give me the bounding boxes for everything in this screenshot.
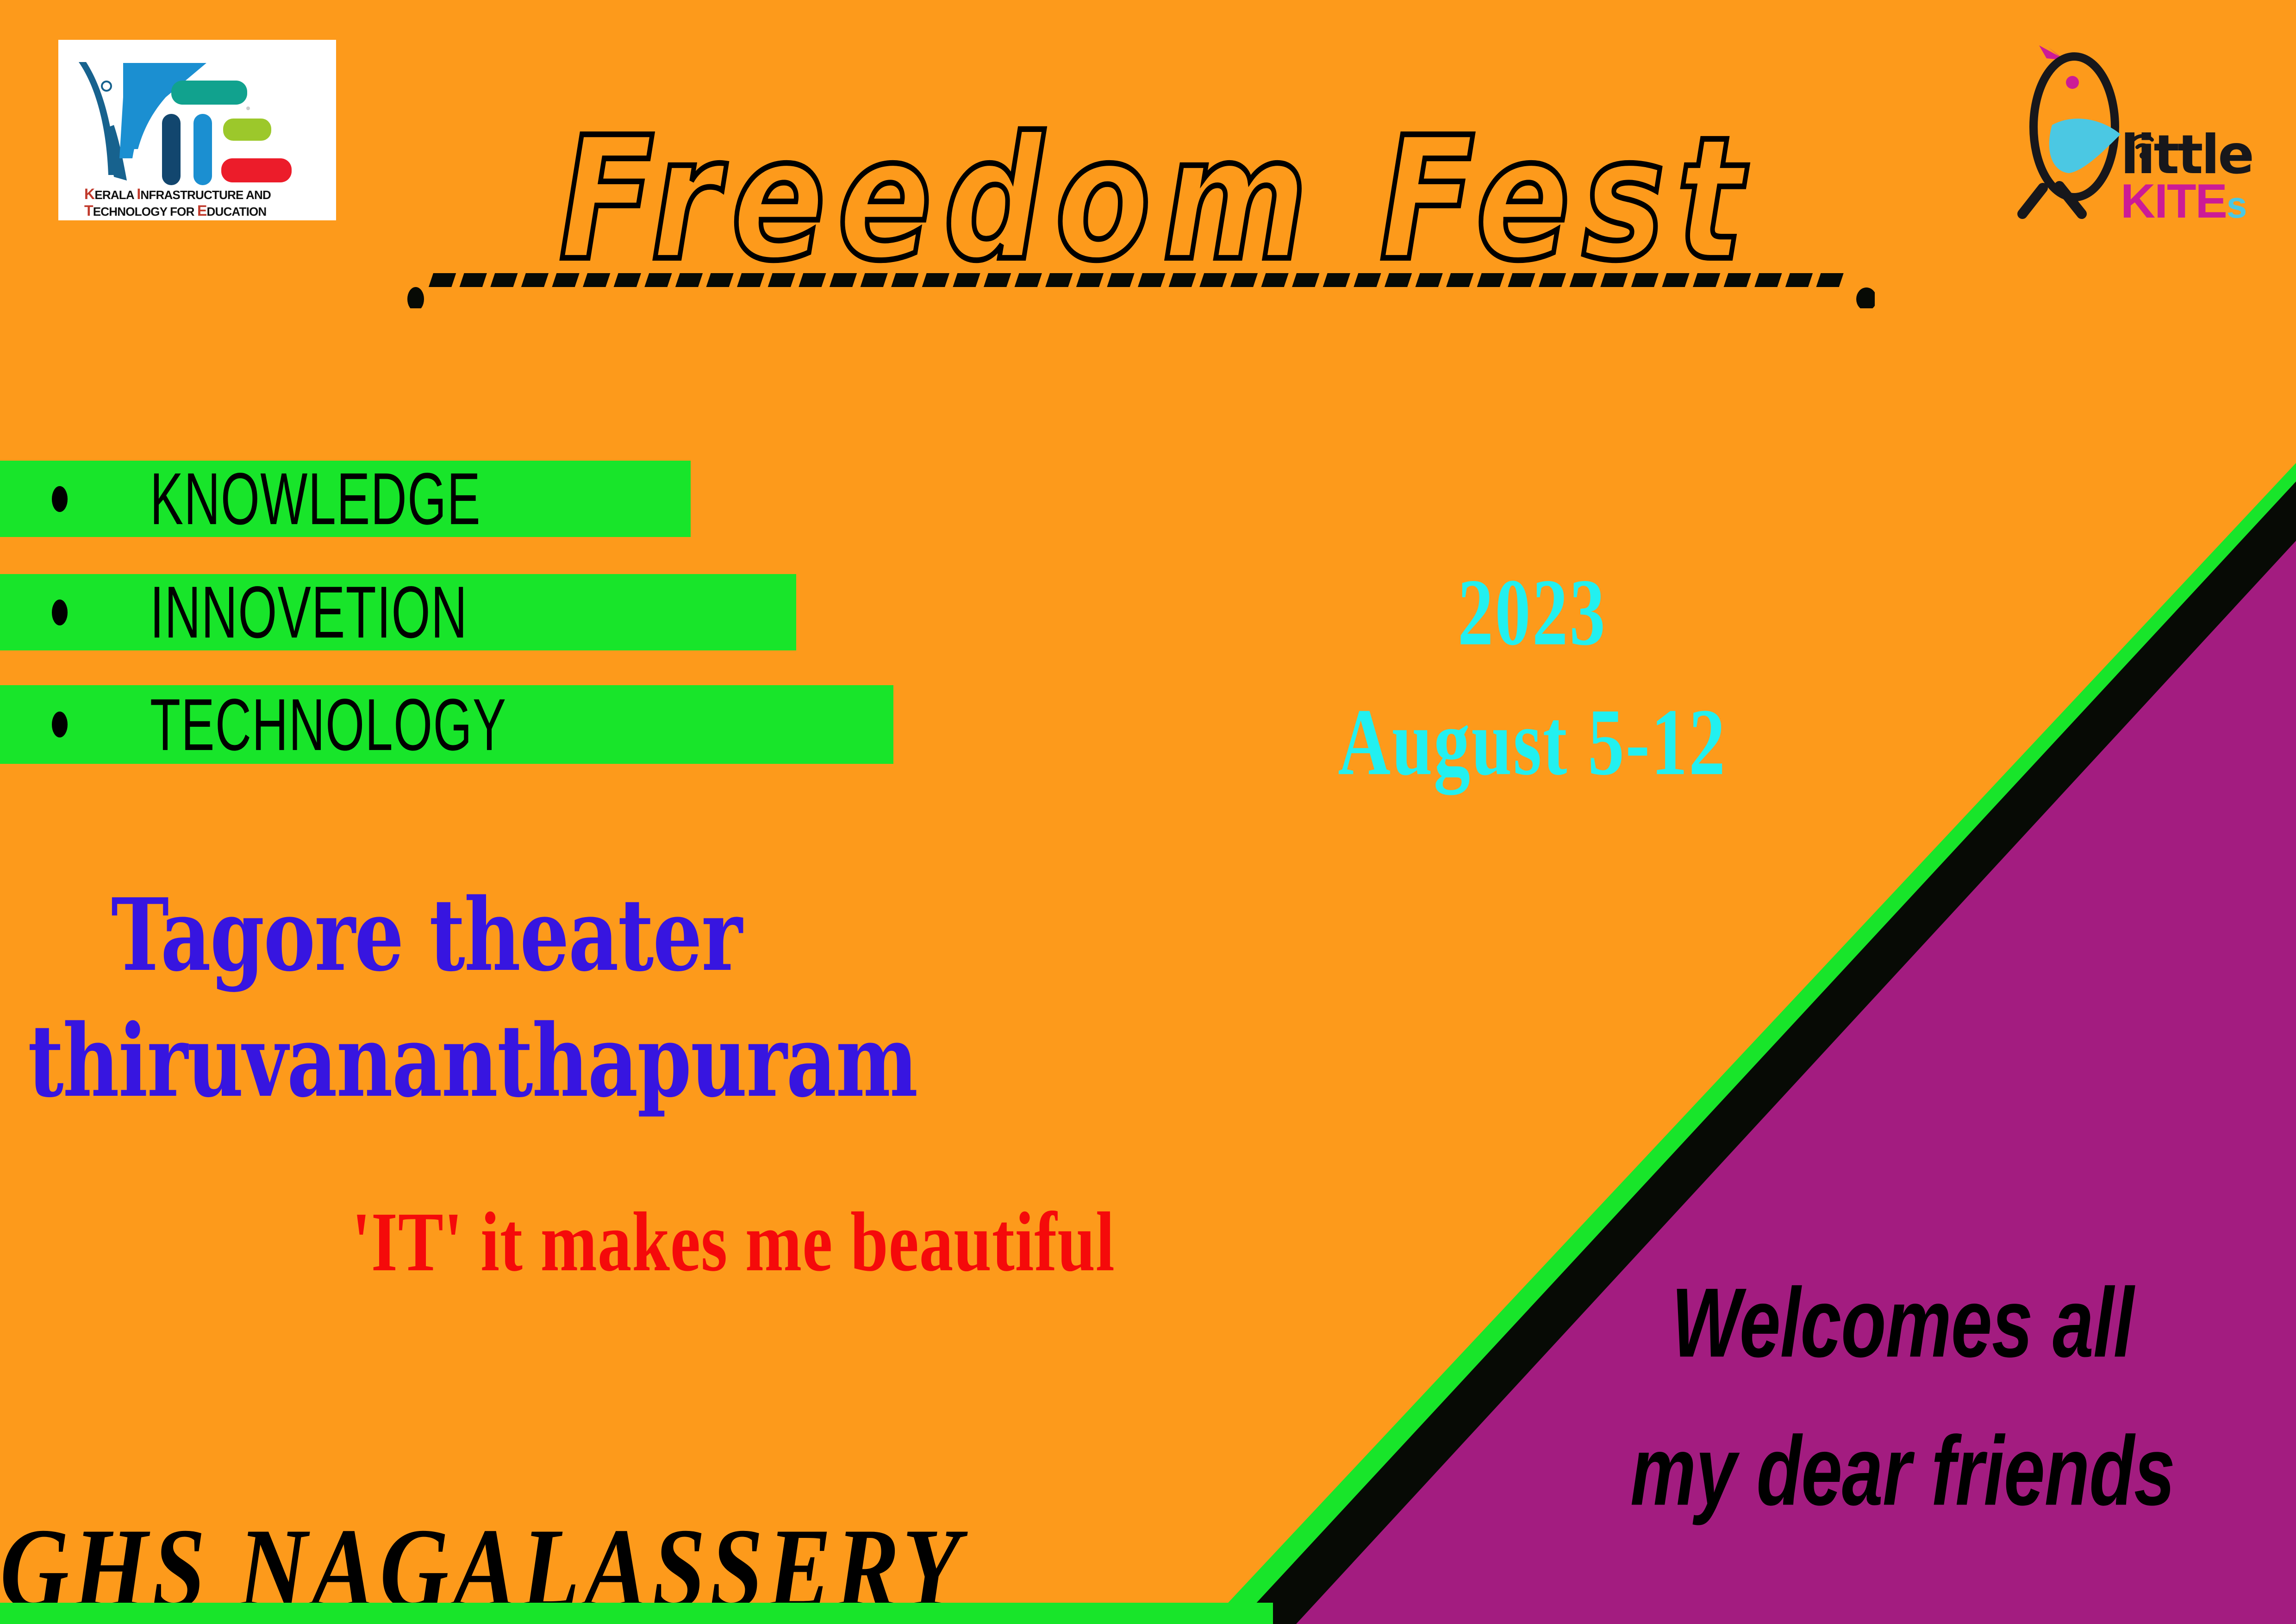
little-kites-logo: little KITEs [2011,32,2271,227]
divider-dash [644,273,672,287]
divider-dash [830,273,857,287]
divider-dash [1754,273,1782,287]
divider-dash [1415,273,1442,287]
divider-right-dot [1856,287,1875,308]
divider-dash [1045,273,1073,287]
divider-dash [984,273,1011,287]
divider-dash [1508,273,1535,287]
divider-dash [1292,273,1319,287]
divider-dash [429,273,456,287]
divider-dash [861,273,888,287]
divider-dash [521,273,549,287]
poster-canvas: KERALA INFRASTRUCTURE AND TECHNOLOGY FOR… [0,0,2296,1624]
venue-block: Tagore theater thiruvananthapuram [28,870,1231,1097]
divider-dash [768,273,795,287]
welcome-line-2: my dear friends [1588,1417,2218,1525]
welcome-line-1: Welcomes all [1588,1268,2218,1377]
divider-dash [675,273,703,287]
divider-dash [953,273,980,287]
divider-dash [1631,273,1659,287]
tagline: 'IT' it makes me beautiful [352,1197,1115,1288]
divider-dash [1600,273,1628,287]
divider-dash [1354,273,1381,287]
divider-dash [1261,273,1288,287]
divider-dash [1570,273,1597,287]
divider-left-dot [407,287,424,308]
divider-dash [1230,273,1258,287]
divider-dash [1693,273,1720,287]
divider-dash [1724,273,1751,287]
venue-line-1: Tagore theater [111,870,1231,999]
divider-dash [552,273,579,287]
divider-dash [1199,273,1227,287]
svg-text:KERALA INFRASTRUCTURE AND: KERALA INFRASTRUCTURE AND [84,186,271,202]
divider-dash [1076,273,1104,287]
page-title: Freedom Fest [417,106,1898,293]
theme-bar-technology: TECHNOLOGY [0,685,893,764]
divider-dash [706,273,733,287]
dashed-divider [407,271,1875,308]
bullet-dot [52,600,68,625]
divider-dash [1015,273,1042,287]
divider-dash [1816,273,1843,287]
divider-dash [737,273,764,287]
theme-label: TECHNOLOGY [150,682,507,767]
divider-dash [1477,273,1504,287]
divider-dash [583,273,610,287]
divider-dash [1446,273,1473,287]
divider-dash [1169,273,1196,287]
svg-text:TECHNOLOGY FOR EDUCATION: TECHNOLOGY FOR EDUCATION [84,202,266,219]
theme-label: INNOVETION [150,570,468,655]
theme-label: KNOWLEDGE [150,456,481,541]
divider-dash [1107,273,1134,287]
divider-dash [490,273,518,287]
divider-dash [1662,273,1689,287]
divider-dash [1323,273,1350,287]
bullet-dot [52,712,68,737]
welcome-block: Welcomes all my dear friends [1528,1268,2277,1514]
divider-dashes [429,273,1844,287]
divider-dash [922,273,949,287]
event-dates: August 5-12 [1220,689,1845,795]
divider-dash [1785,273,1813,287]
bullet-dot [52,486,68,512]
divider-dash [891,273,918,287]
event-date-block: 2023 August 5-12 [1185,560,1879,779]
divider-dash [1385,273,1412,287]
bottom-accent-strip [0,1603,1273,1624]
venue-line-2: thiruvananthapuram [28,996,1231,1125]
divider-dash [1138,273,1165,287]
theme-bar-innovetion: INNOVETION [0,574,796,650]
divider-dash [799,273,826,287]
kite-logo: KERALA INFRASTRUCTURE AND TECHNOLOGY FOR… [58,40,336,220]
divider-dash [614,273,641,287]
divider-dash [1539,273,1566,287]
divider-dash [460,273,487,287]
event-year: 2023 [1227,560,1838,664]
theme-bar-knowledge: KNOWLEDGE [0,461,691,537]
